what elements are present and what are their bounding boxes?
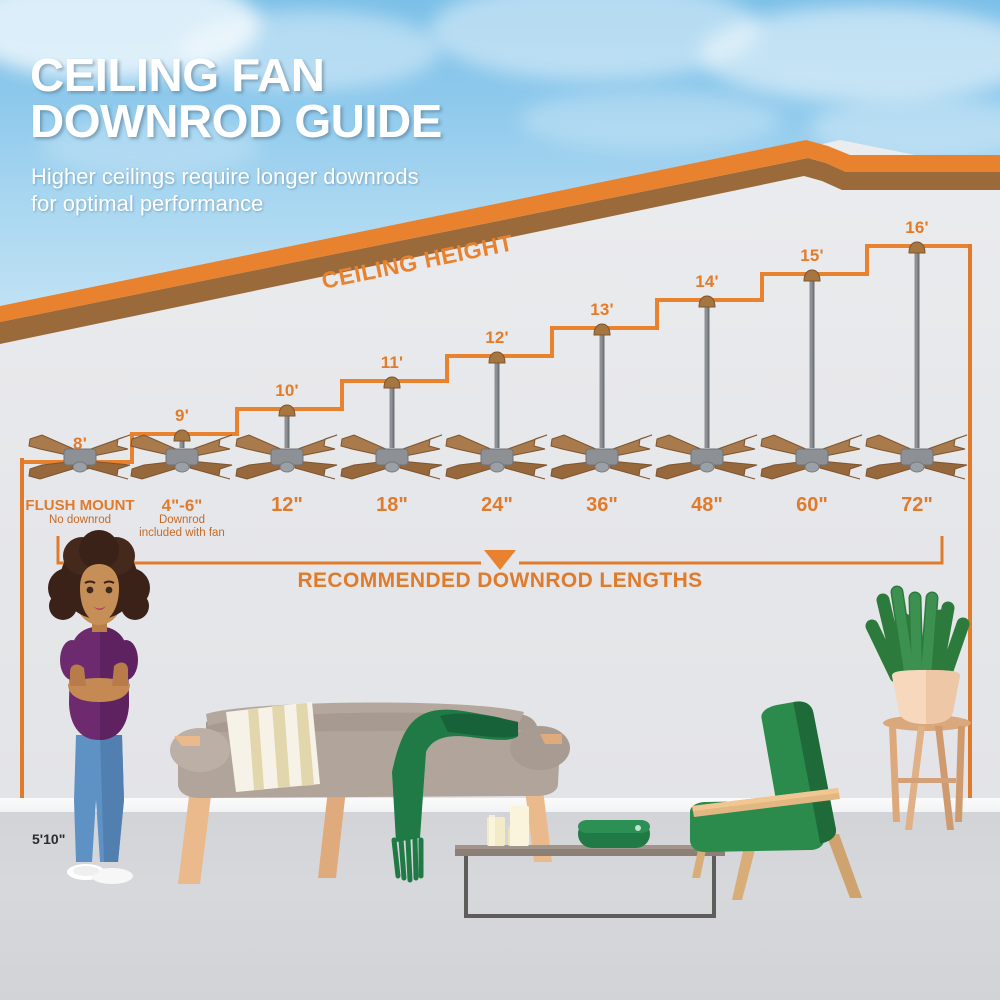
striped-pillow [226,702,320,792]
coffee-table [455,845,725,918]
green-bowl [578,820,650,848]
candle-group [487,806,529,846]
aloe-plant [872,592,963,724]
infographic-canvas: CEILING FAN DOWNROD GUIDE Higher ceiling… [0,0,1000,1000]
room-scene [0,0,1000,1000]
sofa [170,702,570,884]
person-height-label: 5'10" [32,831,65,847]
plant-stand [883,715,971,830]
